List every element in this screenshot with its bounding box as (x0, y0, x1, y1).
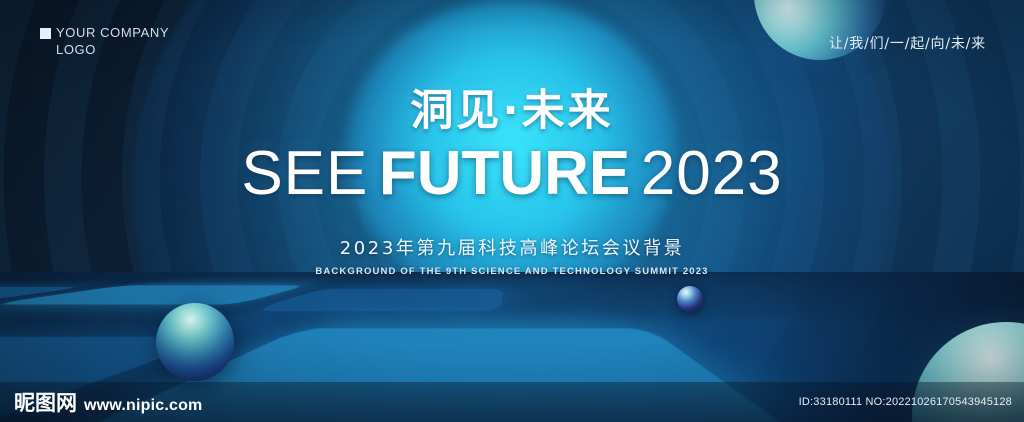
watermark: 昵图网 www.nipic.com (0, 387, 202, 417)
title-english: SEE FUTURE 2023 (0, 142, 1024, 222)
title-block: 洞见·未来 SEE FUTURE 2023 2023年第九届科技高峰论坛会议背景… (0, 86, 1024, 277)
title-chinese: 洞见·未来 (0, 86, 1024, 136)
title-word-see: SEE (241, 139, 368, 208)
image-id-code: ID:33180111 NO:20221026170543945128 (799, 396, 1024, 408)
watermark-url: www.nipic.com (84, 397, 202, 415)
title-word-future: FUTURE (379, 139, 630, 208)
bottom-watermark-bar: 昵图网 www.nipic.com ID:33180111 NO:2022102… (0, 382, 1024, 422)
slogan-text: 让/我/们/一/起/向/未/来 (829, 33, 986, 53)
watermark-brand: 昵图网 (14, 387, 77, 417)
subtitle-english: BACKGROUND OF THE 9TH SCIENCE AND TECHNO… (0, 266, 1024, 277)
logo-text: YOUR COMPANY LOGO (56, 24, 169, 58)
poster-canvas: YOUR COMPANY LOGO 让/我/们/一/起/向/未/来 洞见·未来 … (0, 0, 1024, 422)
title-year: 2023 (641, 139, 783, 208)
subtitle-chinese: 2023年第九届科技高峰论坛会议背景 (0, 234, 1024, 260)
logo-square-icon (40, 28, 51, 39)
company-logo: YOUR COMPANY LOGO (40, 24, 169, 58)
